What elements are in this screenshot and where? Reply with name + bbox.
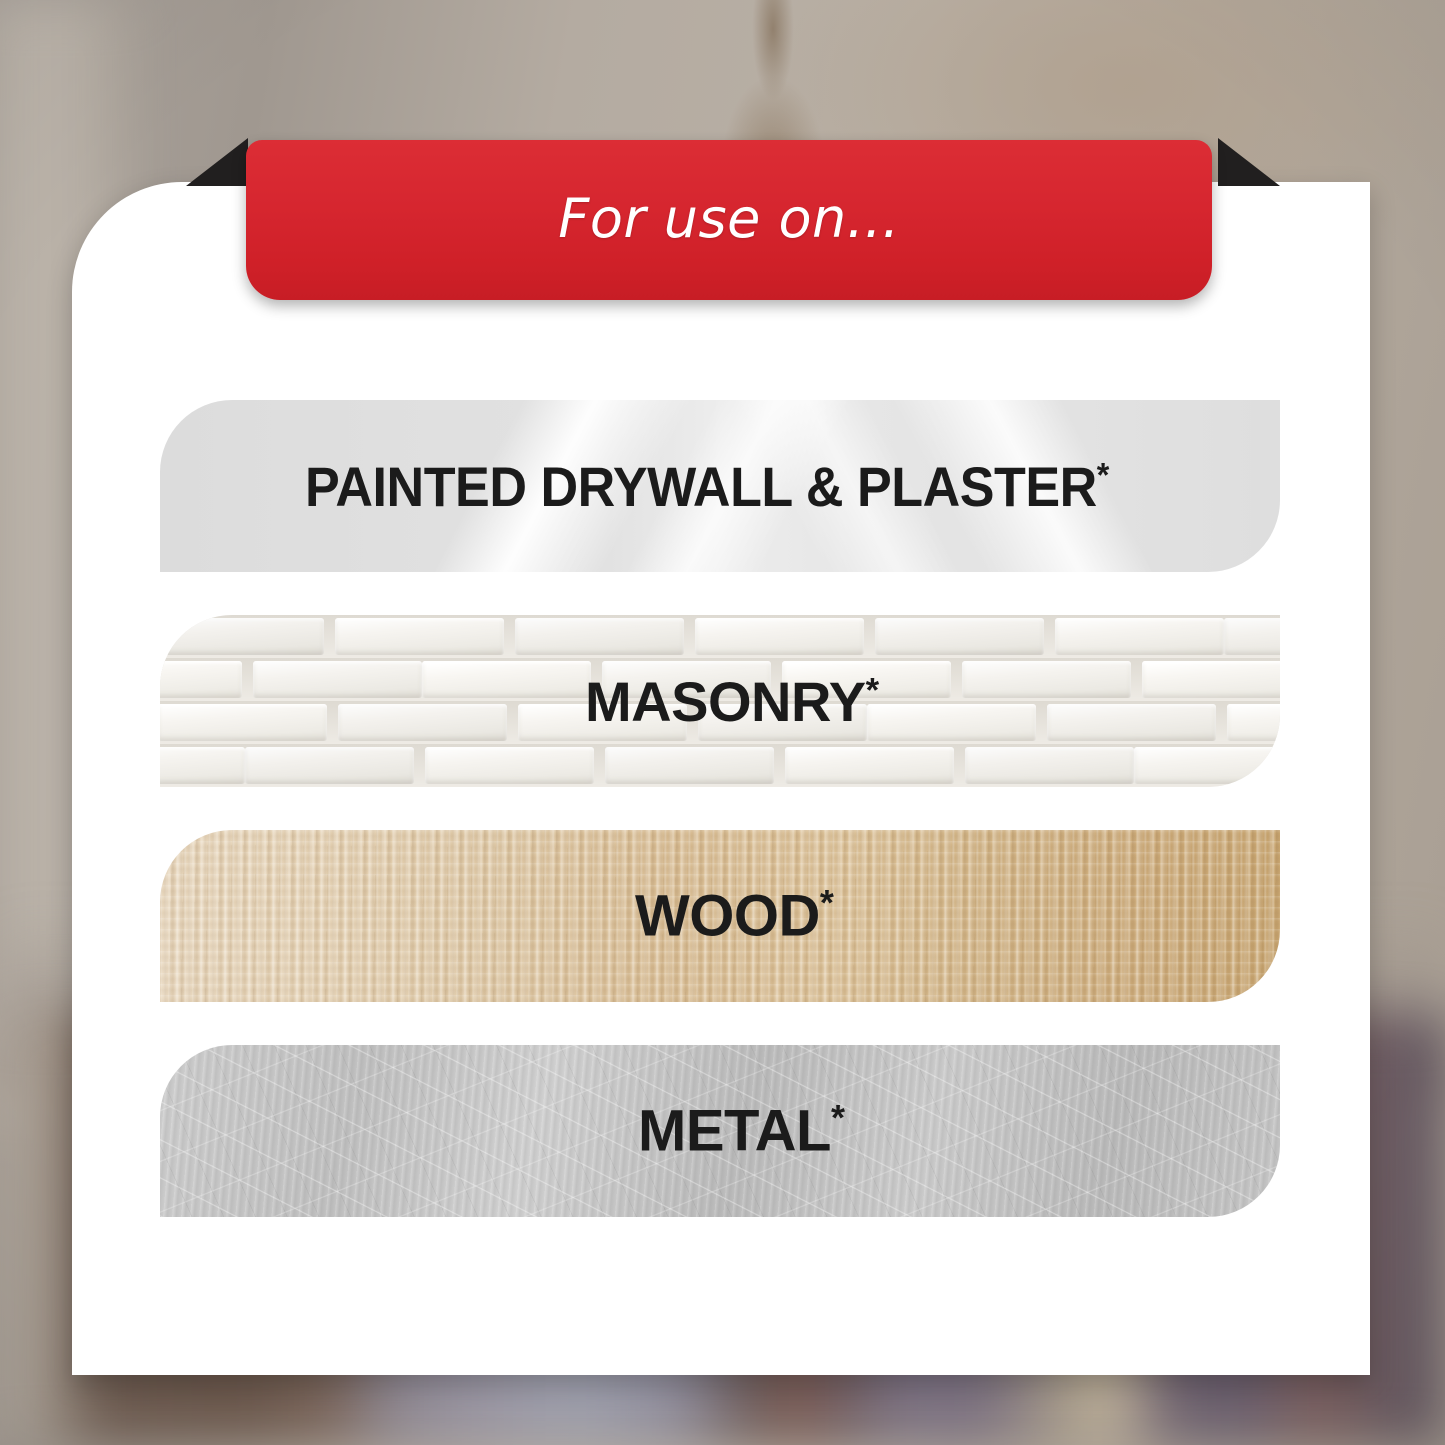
footnote-marker: * xyxy=(831,1097,845,1138)
brick xyxy=(253,661,422,698)
content-card: PAINTED DRYWALL & PLASTER* MASONRY* WOOD… xyxy=(72,182,1370,1375)
brick xyxy=(875,618,1044,655)
brick xyxy=(515,618,684,655)
brick xyxy=(160,618,324,655)
surface-label-masonry: MASONRY* xyxy=(585,669,879,734)
footnote-marker: * xyxy=(820,882,834,923)
surface-bar-metal: METAL* xyxy=(160,1045,1280,1217)
brick xyxy=(962,661,1131,698)
footnote-marker: * xyxy=(1097,456,1109,494)
footnote-marker: * xyxy=(866,671,879,709)
brick-row xyxy=(160,615,1280,658)
brick-row xyxy=(160,744,1280,787)
brick xyxy=(605,747,774,784)
brick xyxy=(1224,618,1280,655)
brick xyxy=(160,704,327,741)
brick xyxy=(1134,747,1280,784)
brick xyxy=(422,661,591,698)
brick xyxy=(160,661,242,698)
brick xyxy=(1227,704,1280,741)
brick xyxy=(785,747,954,784)
brick xyxy=(1047,704,1216,741)
surface-bar-drywall: PAINTED DRYWALL & PLASTER* xyxy=(160,400,1280,572)
brick xyxy=(425,747,594,784)
brick xyxy=(867,704,1036,741)
surface-bar-list: PAINTED DRYWALL & PLASTER* MASONRY* WOOD… xyxy=(72,400,1370,1260)
surface-label-wood: WOOD* xyxy=(635,882,833,949)
ribbon-tail-right xyxy=(1218,138,1280,186)
banner-title: For use on... xyxy=(558,187,899,250)
surface-bar-wood: WOOD* xyxy=(160,830,1280,1002)
banner-ribbon: For use on... xyxy=(186,138,1280,308)
ribbon-tail-left xyxy=(186,138,248,186)
ribbon-body: For use on... xyxy=(246,140,1212,300)
surface-bar-masonry: MASONRY* xyxy=(160,615,1280,787)
poster-stage: PAINTED DRYWALL & PLASTER* MASONRY* WOOD… xyxy=(0,0,1445,1445)
surface-label-drywall: PAINTED DRYWALL & PLASTER* xyxy=(305,454,1109,519)
brick xyxy=(695,618,864,655)
brick xyxy=(338,704,507,741)
brick xyxy=(160,747,245,784)
brick xyxy=(965,747,1134,784)
brick xyxy=(1142,661,1280,698)
brick xyxy=(1055,618,1224,655)
brick xyxy=(245,747,414,784)
surface-label-metal: METAL* xyxy=(638,1097,844,1164)
brick xyxy=(335,618,504,655)
